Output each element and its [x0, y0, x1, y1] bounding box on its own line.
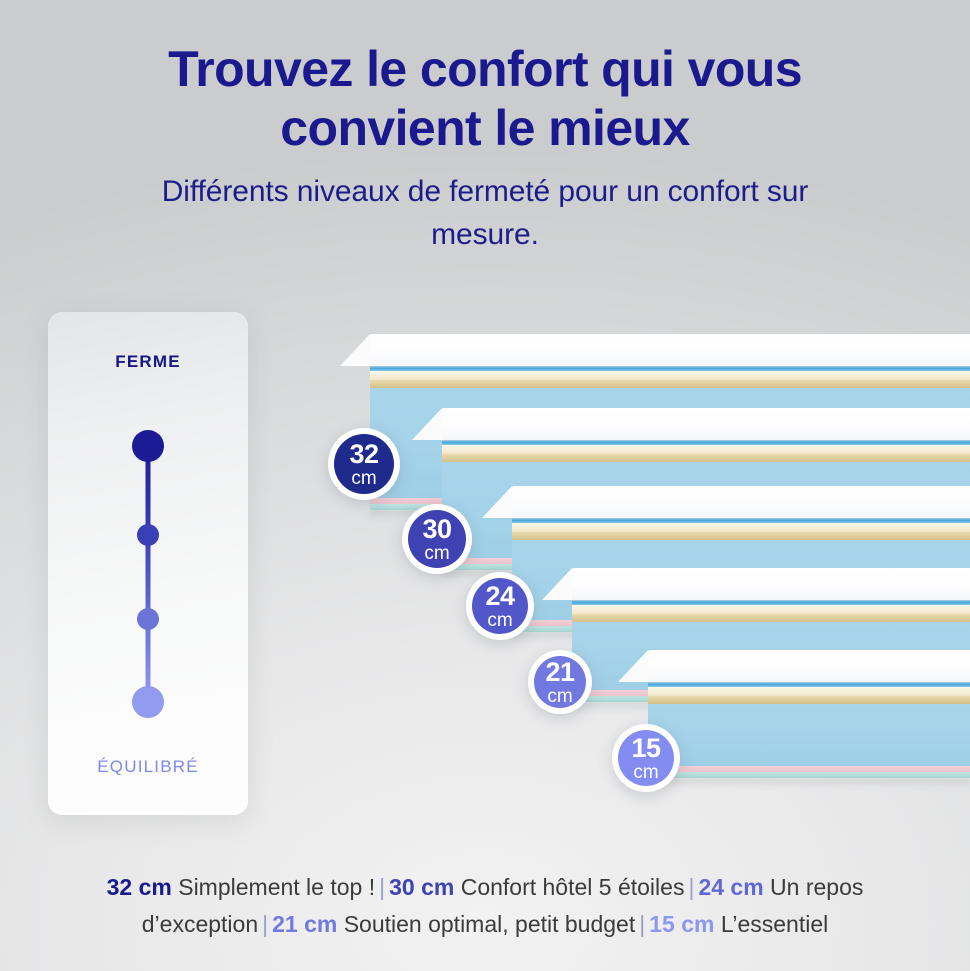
height-badge-unit: cm — [424, 544, 449, 563]
mattress-layer-tan — [370, 380, 970, 388]
firmness-label-firm: FERME — [115, 352, 181, 372]
mattress-drop-shadow — [648, 778, 970, 788]
caption-key-21-cm: 21 cm — [272, 911, 337, 937]
height-badge-21cm[interactable]: 21cm — [528, 650, 592, 714]
caption-separator: | — [684, 874, 698, 900]
caption-text: L’essentiel — [714, 911, 828, 937]
height-badge-unit: cm — [547, 687, 572, 706]
firmness-dot-medium-firm[interactable] — [137, 524, 159, 546]
firmness-dot-firm[interactable] — [132, 430, 164, 462]
caption-separator: | — [635, 911, 649, 937]
caption-text: Soutien optimal, petit budget — [337, 911, 635, 937]
caption-separator: | — [258, 911, 272, 937]
firmness-dot-balanced[interactable] — [132, 686, 164, 718]
mattress-layer-tan — [572, 614, 970, 622]
caption-block: 32 cm Simplement le top !|30 cm Confort … — [0, 869, 970, 944]
height-badge-value: 21 — [545, 659, 574, 686]
caption-line-2: d’exception|21 cm Soutien optimal, petit… — [40, 906, 930, 943]
height-badge-inner: 24cm — [472, 578, 528, 634]
firmness-label-balanced: ÉQUILIBRÉ — [48, 757, 248, 777]
mattress-layer-cream — [370, 371, 970, 380]
firmness-scale-line — [146, 446, 151, 718]
height-badge-24cm[interactable]: 24cm — [466, 572, 534, 640]
firmness-scale-card: FERME ÉQUILIBRÉ — [48, 312, 248, 815]
page-title: Trouvez le confort qui vous convient le … — [0, 40, 970, 157]
height-badge-inner: 15cm — [618, 730, 674, 786]
mattress-layer-cream — [442, 445, 970, 454]
caption-key-24-cm: 24 cm — [698, 874, 763, 900]
height-badge-inner: 32cm — [334, 434, 394, 494]
height-badge-30cm[interactable]: 30cm — [402, 504, 472, 574]
caption-text: Confort hôtel 5 étoiles — [454, 874, 684, 900]
page-subtitle: Différents niveaux de fermeté pour un co… — [0, 171, 970, 256]
mattress-layer-cream — [648, 687, 970, 696]
header-block: Trouvez le confort qui vous convient le … — [0, 0, 970, 256]
caption-text: d’exception — [142, 911, 258, 937]
firmness-dot-medium[interactable] — [137, 608, 159, 630]
mattress-layer-cream — [572, 605, 970, 614]
mattress-top-cover — [512, 486, 970, 518]
mattress-top-cover — [442, 408, 970, 440]
caption-key-30-cm: 30 cm — [389, 874, 454, 900]
mattress-layer-tan — [512, 532, 970, 540]
caption-separator: | — [375, 874, 389, 900]
height-badge-value: 15 — [631, 735, 660, 762]
mattress-15cm[interactable] — [648, 650, 970, 788]
height-badge-unit: cm — [487, 611, 512, 630]
height-badge-inner: 30cm — [408, 510, 466, 568]
mattress-layer-tan — [648, 696, 970, 704]
firmness-scale — [48, 430, 248, 730]
mattress-layer-tan — [442, 454, 970, 462]
height-badge-value: 24 — [485, 583, 514, 610]
height-badge-32cm[interactable]: 32cm — [328, 428, 400, 500]
caption-text: Simplement le top ! — [172, 874, 375, 900]
mattress-top-cover — [572, 568, 970, 600]
caption-line-1: 32 cm Simplement le top !|30 cm Confort … — [40, 869, 930, 906]
height-badge-unit: cm — [351, 469, 376, 488]
mattress-core-body — [648, 704, 970, 766]
height-badge-inner: 21cm — [534, 656, 586, 708]
caption-key-32-cm: 32 cm — [107, 874, 172, 900]
mattress-top-cover — [370, 334, 970, 366]
mattress-layer-cream — [512, 523, 970, 532]
height-badge-value: 30 — [422, 516, 451, 543]
caption-key-15-cm: 15 cm — [649, 911, 714, 937]
height-badge-value: 32 — [349, 441, 378, 468]
caption-text: Un repos — [764, 874, 864, 900]
height-badge-unit: cm — [633, 763, 658, 782]
height-badge-15cm[interactable]: 15cm — [612, 724, 680, 792]
mattress-top-cover — [648, 650, 970, 682]
